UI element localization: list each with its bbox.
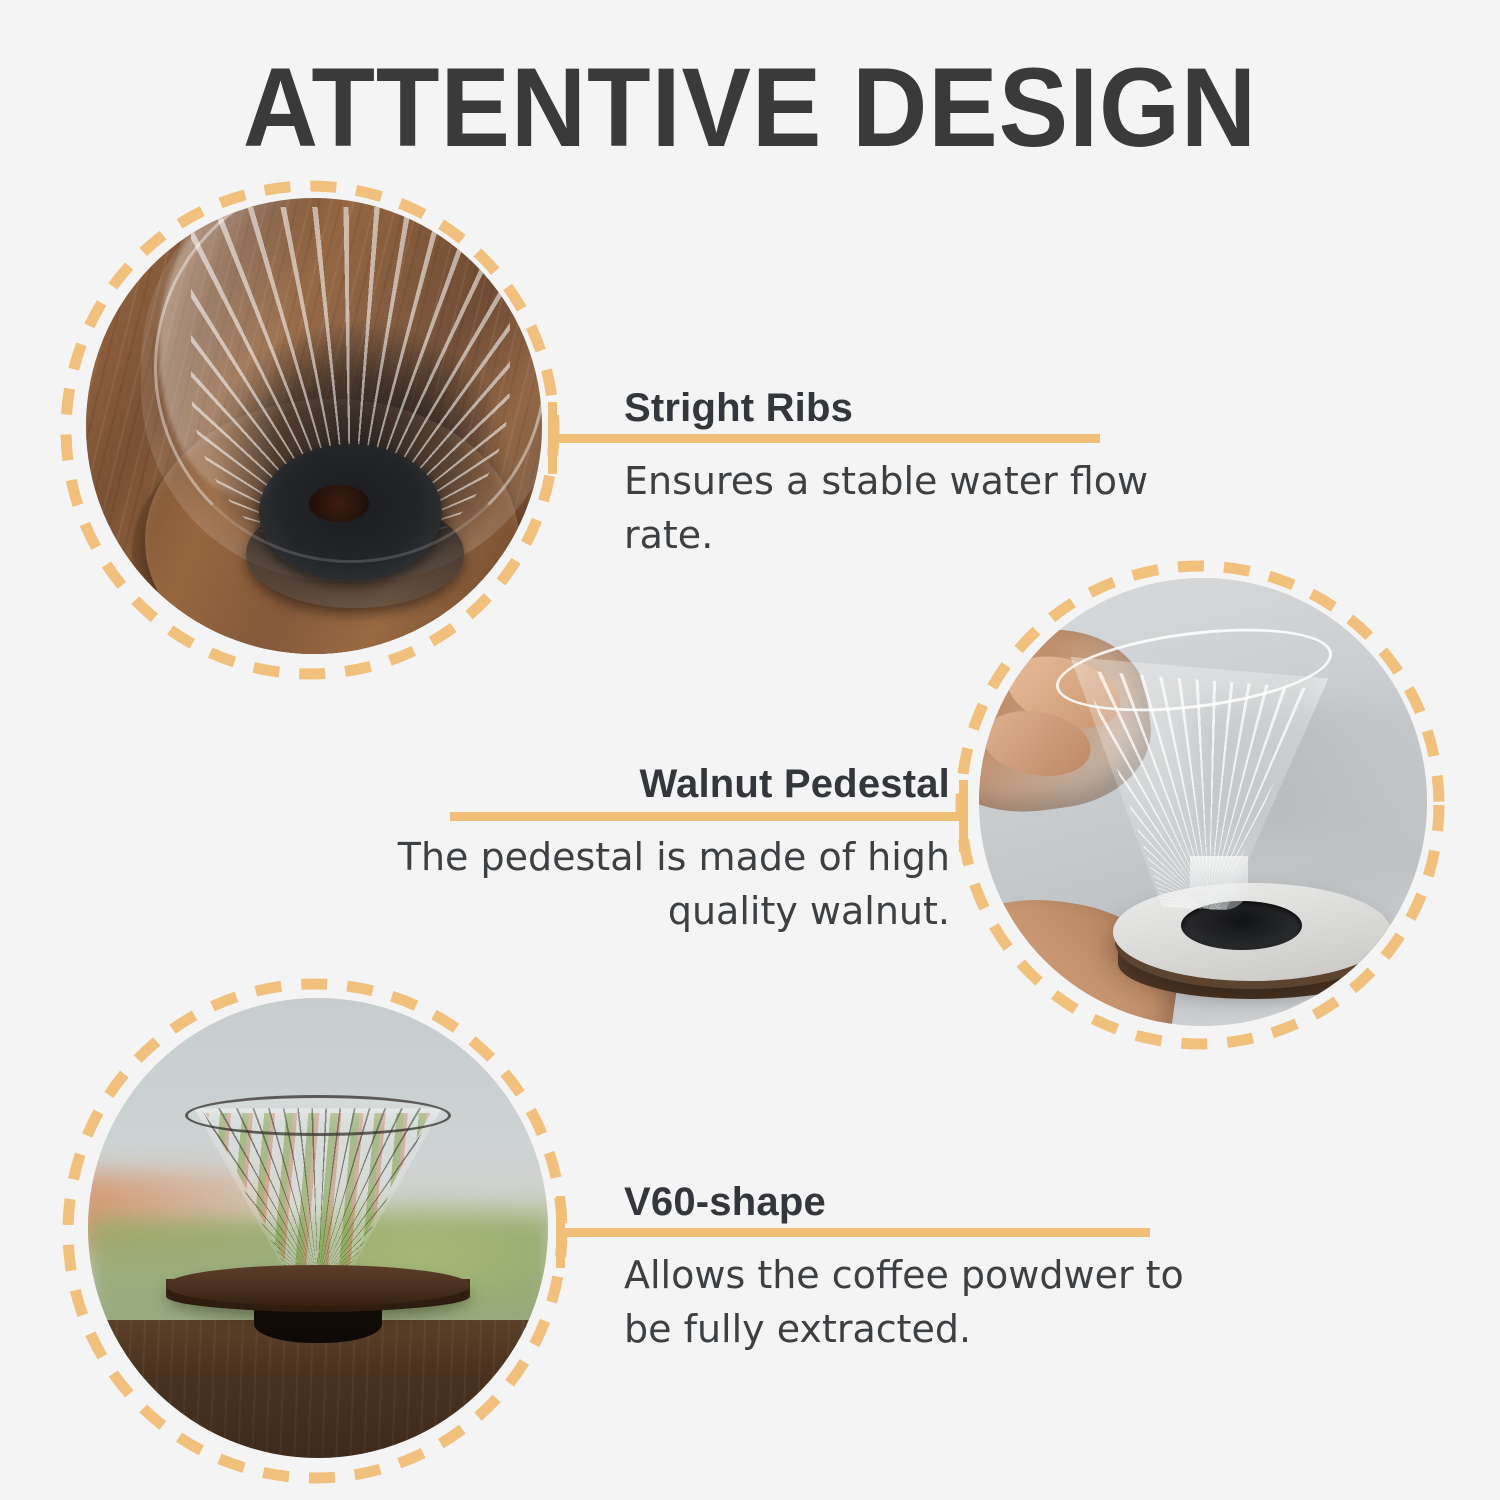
photo-v60-shape (88, 998, 548, 1458)
feature-title-walnut-pedestal: Walnut Pedestal (330, 762, 950, 807)
feature-image-v60-shape (62, 978, 568, 1484)
feature-text-walnut-pedestal: Walnut Pedestal The pedestal is made of … (330, 762, 950, 939)
feature-text-v60-shape: V60-shape Allows the coffee powdwer to b… (624, 1180, 1264, 1357)
feature-title-straight-ribs: Stright Ribs (624, 386, 1224, 431)
feature-image-walnut-pedestal (955, 560, 1445, 1050)
feature-body-straight-ribs: Ensures a stable water flow rate. (624, 455, 1184, 563)
feature-body-walnut-pedestal: The pedestal is made of high quality wal… (370, 831, 950, 939)
page-title: ATTENTIVE DESIGN (53, 52, 1448, 164)
feature-image-straight-ribs (60, 180, 560, 680)
feature-body-v60-shape: Allows the coffee powdwer to be fully ex… (624, 1249, 1224, 1357)
photo-walnut-pedestal (979, 578, 1427, 1026)
feature-title-v60-shape: V60-shape (624, 1180, 1264, 1225)
feature-text-straight-ribs: Stright Ribs Ensures a stable water flow… (624, 386, 1224, 563)
photo-straight-ribs (86, 198, 542, 654)
